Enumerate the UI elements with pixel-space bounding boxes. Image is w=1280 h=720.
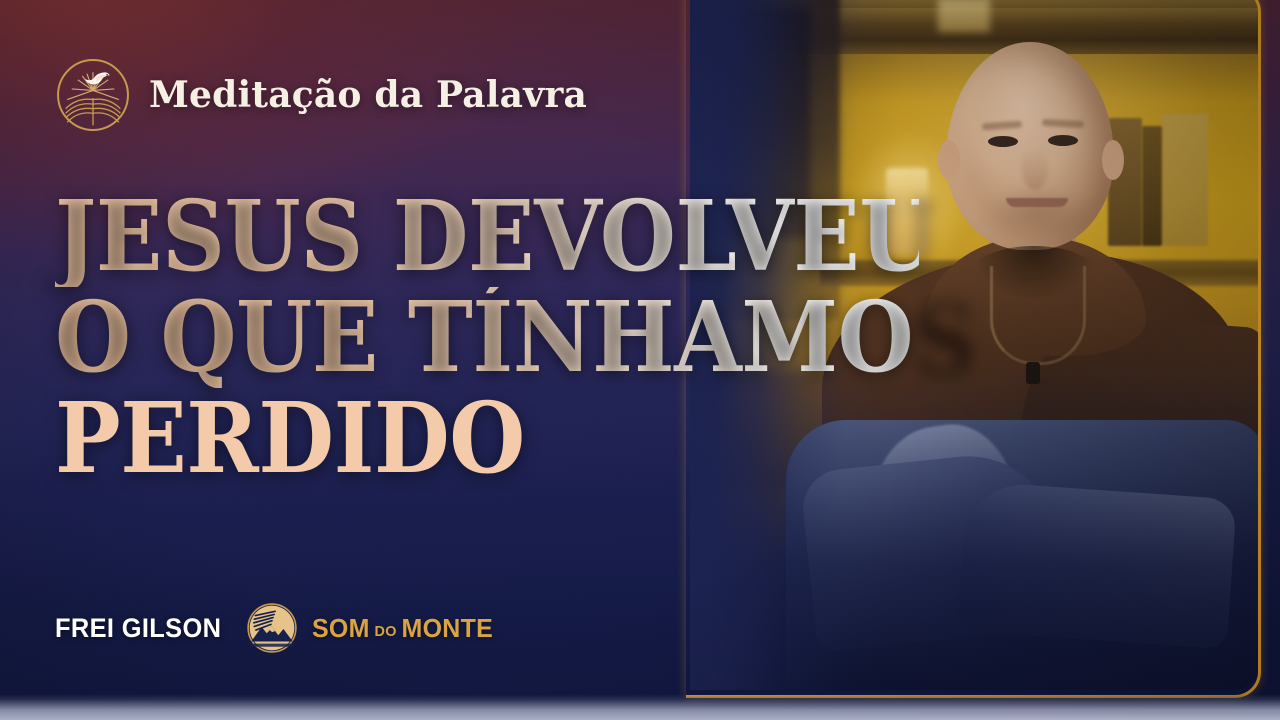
headline-line-2: O QUE TÍNHAMOS [55, 287, 919, 388]
mouth [1006, 198, 1068, 207]
channel-word-monte: MONTE [401, 613, 493, 644]
thumbnail-canvas: Meditação da Palavra JESUS DEVOLVEU O QU… [0, 0, 1280, 720]
channel-word-som: SOM [312, 613, 370, 644]
ear-right [1102, 140, 1124, 180]
speaker-name: FREI GILSON [55, 613, 221, 644]
sleeve-right [957, 481, 1237, 649]
channel-word-do: DO [374, 623, 396, 640]
eye-left [988, 136, 1018, 147]
ear-left [938, 140, 960, 180]
bottom-light-strip [0, 694, 1280, 720]
mountain-sunrise-logo-icon [246, 602, 298, 654]
headline-block: JESUS DEVOLVEU O QUE TÍNHAMOS PERDIDO [55, 186, 1015, 489]
dove-open-book-emblem-icon [55, 57, 131, 133]
pendant-icon [1026, 362, 1040, 384]
eye-right [1048, 135, 1078, 146]
brand-lockup: Meditação da Palavra [55, 57, 587, 133]
nose [1022, 148, 1048, 190]
headline-line-3: PERDIDO [55, 388, 919, 489]
brand-title: Meditação da Palavra [149, 74, 587, 116]
headline-line-1: JESUS DEVOLVEU [55, 186, 919, 287]
channel-name: SOM DO MONTE [312, 613, 493, 644]
footer-branding: FREI GILSON SOM DO MONTE [55, 602, 501, 654]
